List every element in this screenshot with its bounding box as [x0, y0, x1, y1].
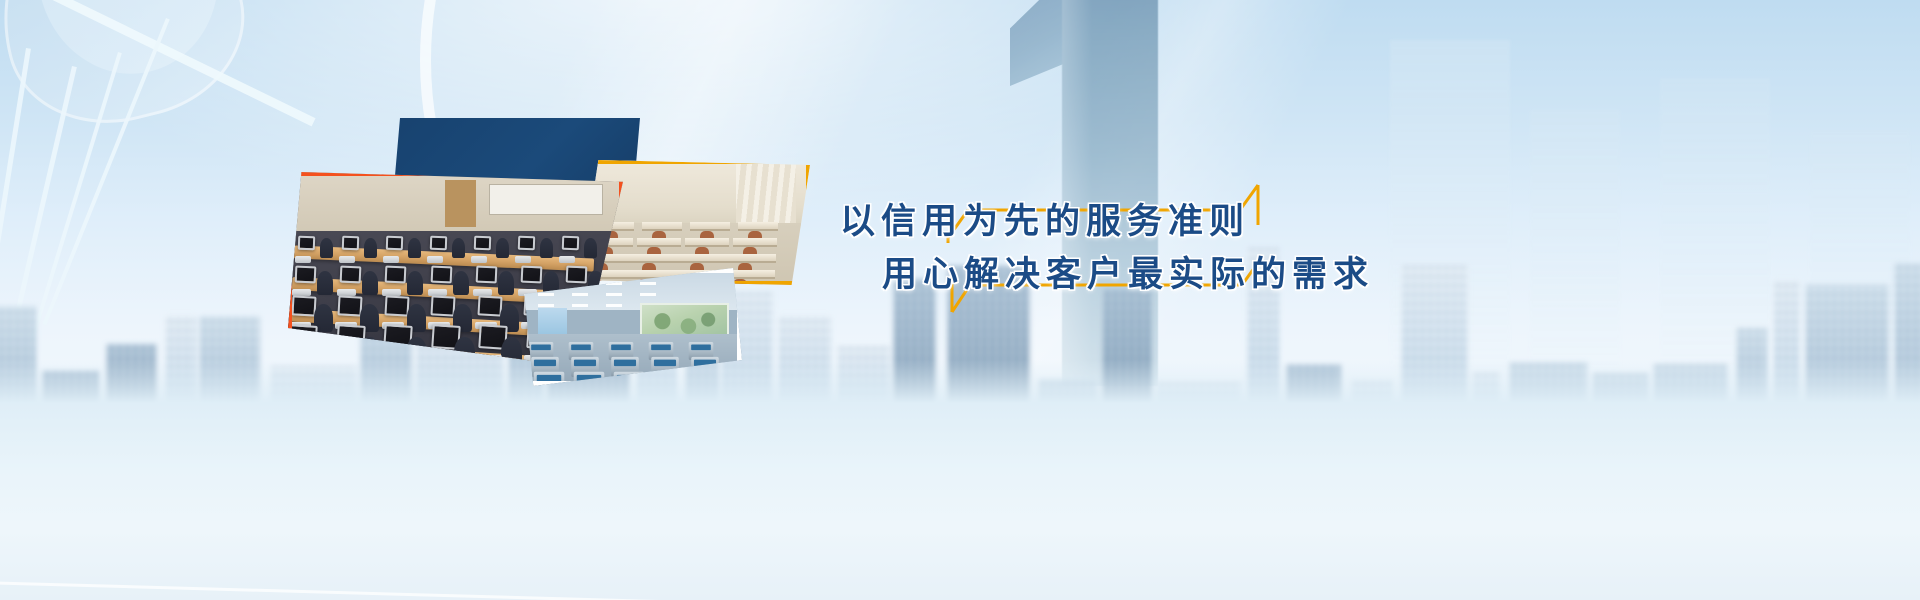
promo-banner: 以信用为先的服务准则 用心解决客户最实际的需求 — [0, 0, 1920, 600]
photo-classroom[interactable] — [580, 160, 810, 285]
console-pod — [694, 372, 725, 386]
classroom-photo-frame — [580, 160, 810, 285]
lab-keyboard — [429, 355, 455, 362]
slogan-line-1: 以信用为先的服务准则 — [840, 196, 1360, 249]
photo-collage — [280, 100, 860, 400]
lab-chair — [311, 337, 332, 367]
slogan-block: 以信用为先的服务准则 用心解决客户最实际的需求 — [840, 196, 1360, 326]
paving-line — [0, 594, 1920, 600]
slogan-line-2: 用心解决客户最实际的需求 — [882, 249, 1360, 302]
console-pod — [654, 372, 685, 386]
plaza-paving-lines — [0, 370, 1920, 600]
lab-keyboard — [334, 355, 360, 362]
lab-chair — [359, 337, 380, 367]
paving-line — [0, 576, 1920, 600]
lab-keyboard — [381, 355, 407, 362]
lab-keyboard — [288, 355, 312, 362]
